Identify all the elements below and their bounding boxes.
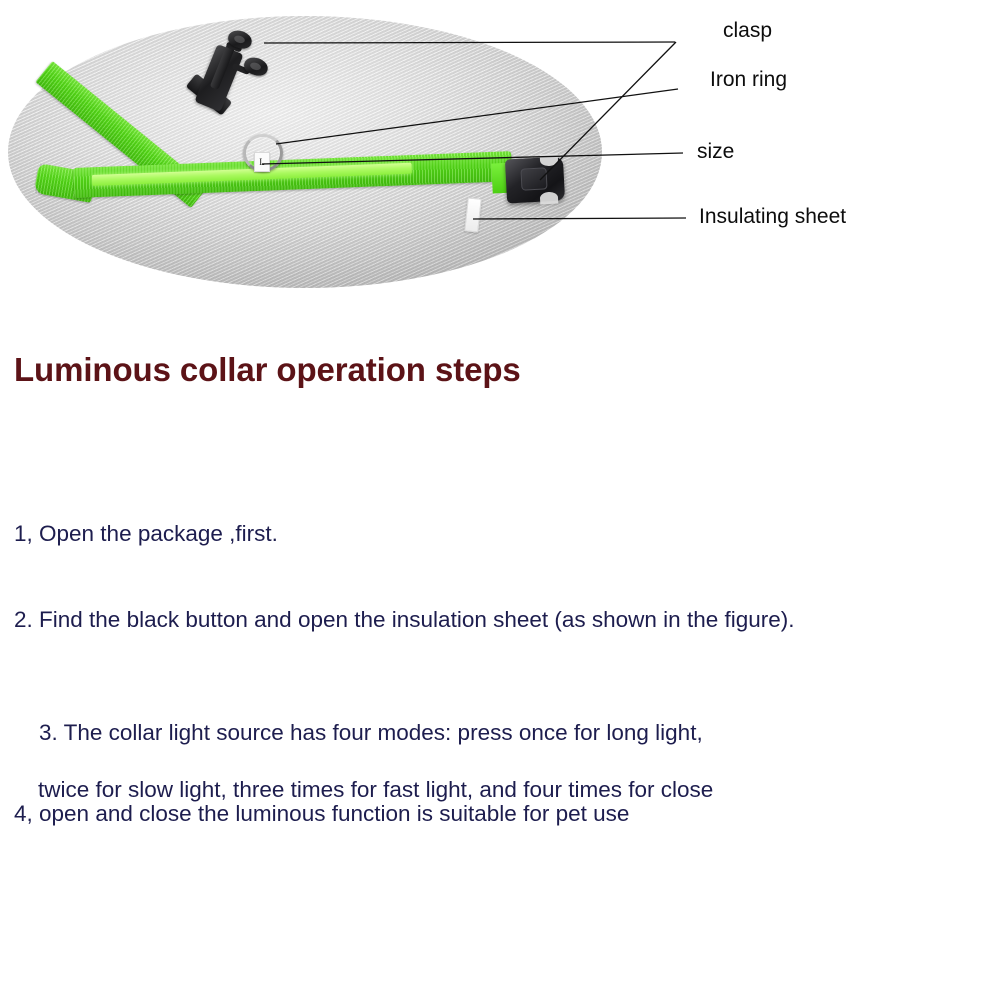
step-item-2: 2. Find the black button and open the in…	[14, 606, 795, 635]
callout-label-iron-ring: Iron ring	[710, 69, 787, 90]
callout-label-size: size	[697, 141, 734, 162]
callout-label-clasp: clasp	[723, 20, 772, 41]
step-item-4: 4, open and close the luminous function …	[14, 800, 629, 829]
callout-label-insulating-sheet: Insulating sheet	[699, 206, 846, 227]
callout-leader-lines	[0, 0, 1000, 300]
product-diagram: L clasp Iron ring size Insulating sheet	[0, 0, 1000, 300]
leader-line-size	[262, 153, 683, 164]
leader-line-insulating-sheet	[473, 218, 686, 219]
leader-line-iron-ring	[276, 89, 678, 144]
page-title: Luminous collar operation steps	[14, 352, 521, 389]
step-item-1: 1, Open the package ,first.	[14, 520, 278, 549]
leader-line-clasp-diagonal	[540, 42, 676, 180]
step-item-3-line-1: 3. The collar light source has four mode…	[39, 720, 703, 745]
leader-line-clasp	[264, 42, 675, 43]
step-item-3: 3. The collar light source has four mode…	[14, 690, 713, 863]
